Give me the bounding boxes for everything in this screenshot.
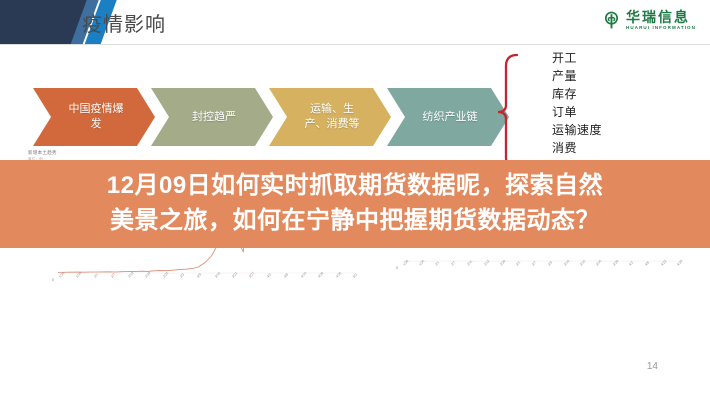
kpi-item-4: 订单 bbox=[552, 104, 605, 121]
x-tick-label: 4/8 bbox=[283, 272, 289, 278]
flow-step-label: 纺织产业链 bbox=[423, 110, 478, 125]
x-tick-label: 2/1 bbox=[434, 260, 440, 266]
x-tick-label: 3/9 bbox=[547, 260, 553, 266]
flow-step-4: 纺织产业链 bbox=[387, 88, 509, 146]
left-chart-title: 新增本土趋势 bbox=[28, 150, 358, 156]
kpi-item-3: 库存 bbox=[552, 86, 605, 103]
x-tick-label: 5/2 bbox=[352, 272, 358, 278]
x-tick-label: 2/7 bbox=[450, 260, 456, 266]
kpi-item-6: 消费 bbox=[552, 140, 605, 157]
process-flow: 中国疫情爆发封控趋严运输、生产、消费等纺织产业链 bbox=[33, 88, 505, 146]
x-tick-label: 3/9 bbox=[196, 272, 202, 278]
huarui-leaf-logo-icon bbox=[602, 11, 621, 30]
brand-logo: 华瑞信息 HUARUI INFORMATION bbox=[602, 10, 696, 31]
flow-step-2: 封控趋严 bbox=[151, 88, 273, 146]
red-brace-icon bbox=[497, 53, 519, 171]
slide-header: 疫情影响 华瑞信息 HUARUI INFORMATION bbox=[0, 0, 710, 45]
logo-text-block: 华瑞信息 HUARUI INFORMATION bbox=[626, 10, 696, 31]
left-chart-x-axis: 1/201/262/12/72/132/192/253/33/93/153/21… bbox=[28, 276, 358, 298]
flow-step-label: 中国疫情爆发 bbox=[69, 102, 124, 132]
flow-step-3: 运输、生产、消费等 bbox=[269, 88, 391, 146]
x-tick-label: 4/8 bbox=[644, 260, 650, 266]
kpi-item-2: 产量 bbox=[552, 68, 605, 85]
page-title: 疫情影响 bbox=[82, 8, 166, 37]
page-number: 14 bbox=[647, 361, 658, 372]
logo-name-en: HUARUI INFORMATION bbox=[626, 26, 696, 31]
right-chart-x-axis: 1/201/262/12/72/112/122/203/13/73/93/143… bbox=[372, 264, 682, 286]
headline-text: 12月09日如何实时抓取期货数据呢，探索自然 美景之旅，如何在宁静中把握期货数据… bbox=[0, 169, 710, 239]
flow-step-1: 中国疫情爆发 bbox=[33, 88, 155, 146]
headline-overlay: 12月09日如何实时抓取期货数据呢，探索自然 美景之旅，如何在宁静中把握期货数据… bbox=[0, 160, 710, 248]
kpi-item-1: 开工 bbox=[552, 50, 605, 67]
headline-line-1: 12月09日如何实时抓取期货数据呢，探索自然 bbox=[10, 169, 700, 204]
x-tick-label: 3/7 bbox=[531, 260, 537, 266]
slide-canvas: 新增本土趋势 单位：例 010002000 1/201/262/12/72/13… bbox=[0, 0, 710, 400]
kpi-item-5: 运输速度 bbox=[552, 122, 605, 139]
header-divider bbox=[0, 44, 710, 45]
kpi-list: 开工产量库存订单运输速度消费…………… bbox=[552, 50, 605, 169]
x-tick-label: 3/1 bbox=[515, 260, 521, 266]
x-tick-label: 2/1 bbox=[93, 272, 99, 278]
logo-name-cn: 华瑞信息 bbox=[626, 10, 696, 24]
x-tick-label: 3/3 bbox=[179, 272, 185, 278]
headline-line-2: 美景之旅，如何在宁静中把握期货数据动态？ bbox=[10, 204, 700, 239]
x-tick-label: 4/2 bbox=[628, 260, 634, 266]
x-tick-label: 2/7 bbox=[110, 272, 116, 278]
flow-step-label: 封控趋严 bbox=[192, 110, 236, 125]
flow-step-label: 运输、生产、消费等 bbox=[305, 102, 360, 132]
